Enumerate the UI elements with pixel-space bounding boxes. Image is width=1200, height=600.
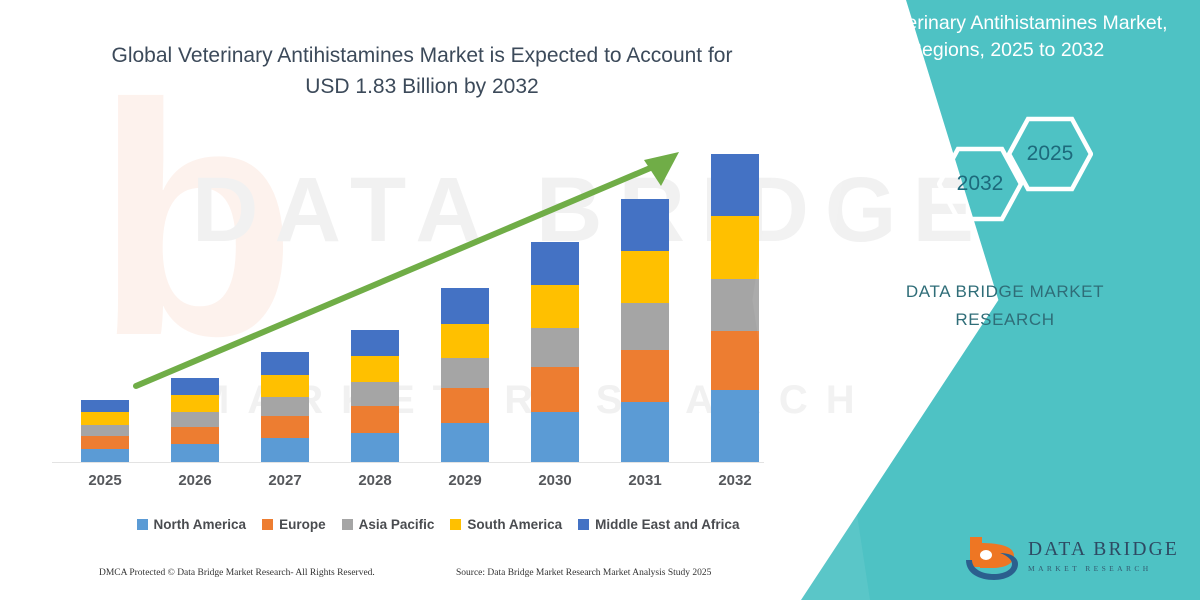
bar-segment bbox=[261, 375, 309, 397]
bar-segment bbox=[711, 154, 759, 216]
bar-segment bbox=[621, 402, 669, 462]
x-axis-tick-2026: 2026 bbox=[163, 472, 227, 489]
bar-segment bbox=[531, 367, 579, 412]
legend-label: South America bbox=[467, 517, 562, 532]
chart-title: Global Veterinary Antihistamines Market … bbox=[92, 40, 752, 102]
bar-segment bbox=[351, 406, 399, 433]
bar-segment bbox=[531, 328, 579, 367]
infographic-canvas: b DATA BRIDGE MARKET RESEARCH Global Vet… bbox=[0, 0, 1200, 600]
logo-tagline: MARKET RESEARCH bbox=[1028, 564, 1179, 573]
bar-segment bbox=[621, 350, 669, 402]
hexagon-label-2025: 2025 bbox=[1027, 142, 1074, 166]
bridge-b-mark-icon bbox=[962, 533, 1024, 583]
logo-wordmark: DATA BRIDGE MARKET RESEARCH bbox=[1028, 539, 1179, 573]
bar-segment bbox=[171, 444, 219, 462]
bar-segment bbox=[621, 303, 669, 350]
x-axis-tick-2030: 2030 bbox=[523, 472, 587, 489]
bar-column-2032 bbox=[711, 154, 759, 462]
x-axis-tick-2028: 2028 bbox=[343, 472, 407, 489]
bar-column-2031 bbox=[621, 199, 669, 462]
bar-segment bbox=[531, 242, 579, 285]
legend-swatch-icon bbox=[342, 519, 353, 530]
bar-segment bbox=[261, 397, 309, 416]
footer-source: Source: Data Bridge Market Research Mark… bbox=[456, 568, 711, 578]
bar-segment bbox=[351, 382, 399, 406]
bar-segment bbox=[441, 324, 489, 358]
bar-column-2030 bbox=[531, 242, 579, 462]
bar-segment bbox=[81, 436, 129, 449]
legend-item[interactable]: Asia Pacific bbox=[342, 517, 435, 532]
bar-segment bbox=[441, 288, 489, 324]
legend-swatch-icon bbox=[578, 519, 589, 530]
bar-segment bbox=[261, 352, 309, 375]
bar-segment bbox=[711, 390, 759, 462]
chart-legend: North AmericaEuropeAsia PacificSouth Ame… bbox=[108, 512, 768, 536]
bar-segment bbox=[171, 427, 219, 444]
footer-copyright: DMCA Protected © Data Bridge Market Rese… bbox=[99, 568, 375, 578]
legend-swatch-icon bbox=[262, 519, 273, 530]
bar-segment bbox=[441, 358, 489, 388]
panel-brand-name: DATA BRIDGE MARKET RESEARCH bbox=[840, 278, 1170, 334]
bar-segment bbox=[171, 395, 219, 412]
bar-segment bbox=[621, 199, 669, 251]
bar-segment bbox=[531, 285, 579, 328]
legend-item[interactable]: South America bbox=[450, 517, 562, 532]
bar-segment bbox=[441, 423, 489, 462]
panel-brand-line1: DATA BRIDGE MARKET bbox=[840, 278, 1170, 306]
bar-column-2026 bbox=[171, 378, 219, 462]
bar-segment bbox=[81, 412, 129, 425]
bar-segment bbox=[81, 400, 129, 412]
x-axis-tick-2027: 2027 bbox=[253, 472, 317, 489]
legend-swatch-icon bbox=[137, 519, 148, 530]
bar-segment bbox=[171, 378, 219, 395]
chart-baseline bbox=[52, 462, 764, 463]
bar-segment bbox=[351, 356, 399, 382]
bar-segment bbox=[621, 251, 669, 303]
x-axis-tick-2031: 2031 bbox=[613, 472, 677, 489]
logo-name: DATA BRIDGE bbox=[1028, 539, 1179, 561]
x-axis-tick-2025: 2025 bbox=[73, 472, 137, 489]
bar-segment bbox=[171, 412, 219, 427]
bar-segment bbox=[261, 416, 309, 438]
x-axis-labels: 20252026202720282029203020312032 bbox=[60, 472, 780, 496]
bar-segment bbox=[531, 412, 579, 462]
bar-segment bbox=[711, 331, 759, 390]
bar-column-2028 bbox=[351, 330, 399, 462]
bar-segment bbox=[711, 216, 759, 279]
bar-segment bbox=[351, 330, 399, 356]
legend-swatch-icon bbox=[450, 519, 461, 530]
legend-label: Asia Pacific bbox=[359, 517, 435, 532]
bar-segment bbox=[711, 279, 759, 331]
legend-label: North America bbox=[154, 517, 247, 532]
x-axis-tick-2029: 2029 bbox=[433, 472, 497, 489]
bar-column-2025 bbox=[81, 400, 129, 462]
bar-segment bbox=[261, 438, 309, 462]
legend-item[interactable]: North America bbox=[137, 517, 247, 532]
bar-segment bbox=[81, 425, 129, 436]
panel-title: Global Veterinary Antihistamines Market,… bbox=[812, 10, 1172, 64]
legend-item[interactable]: Middle East and Africa bbox=[578, 517, 739, 532]
bar-segment bbox=[351, 433, 399, 462]
bar-column-2027 bbox=[261, 352, 309, 462]
hexagon-badge-2025: 2025 bbox=[1007, 116, 1093, 192]
legend-label: Middle East and Africa bbox=[595, 517, 739, 532]
bar-chart-plot-area bbox=[60, 120, 780, 462]
x-axis-tick-2032: 2032 bbox=[703, 472, 767, 489]
hexagon-label-2032: 2032 bbox=[957, 172, 1004, 196]
data-bridge-logo: DATA BRIDGE MARKET RESEARCH bbox=[962, 533, 1182, 585]
bar-column-2029 bbox=[441, 288, 489, 462]
bar-segment bbox=[81, 449, 129, 462]
legend-label: Europe bbox=[279, 517, 326, 532]
bar-segment bbox=[441, 388, 489, 423]
panel-brand-line2: RESEARCH bbox=[840, 306, 1170, 334]
legend-item[interactable]: Europe bbox=[262, 517, 326, 532]
